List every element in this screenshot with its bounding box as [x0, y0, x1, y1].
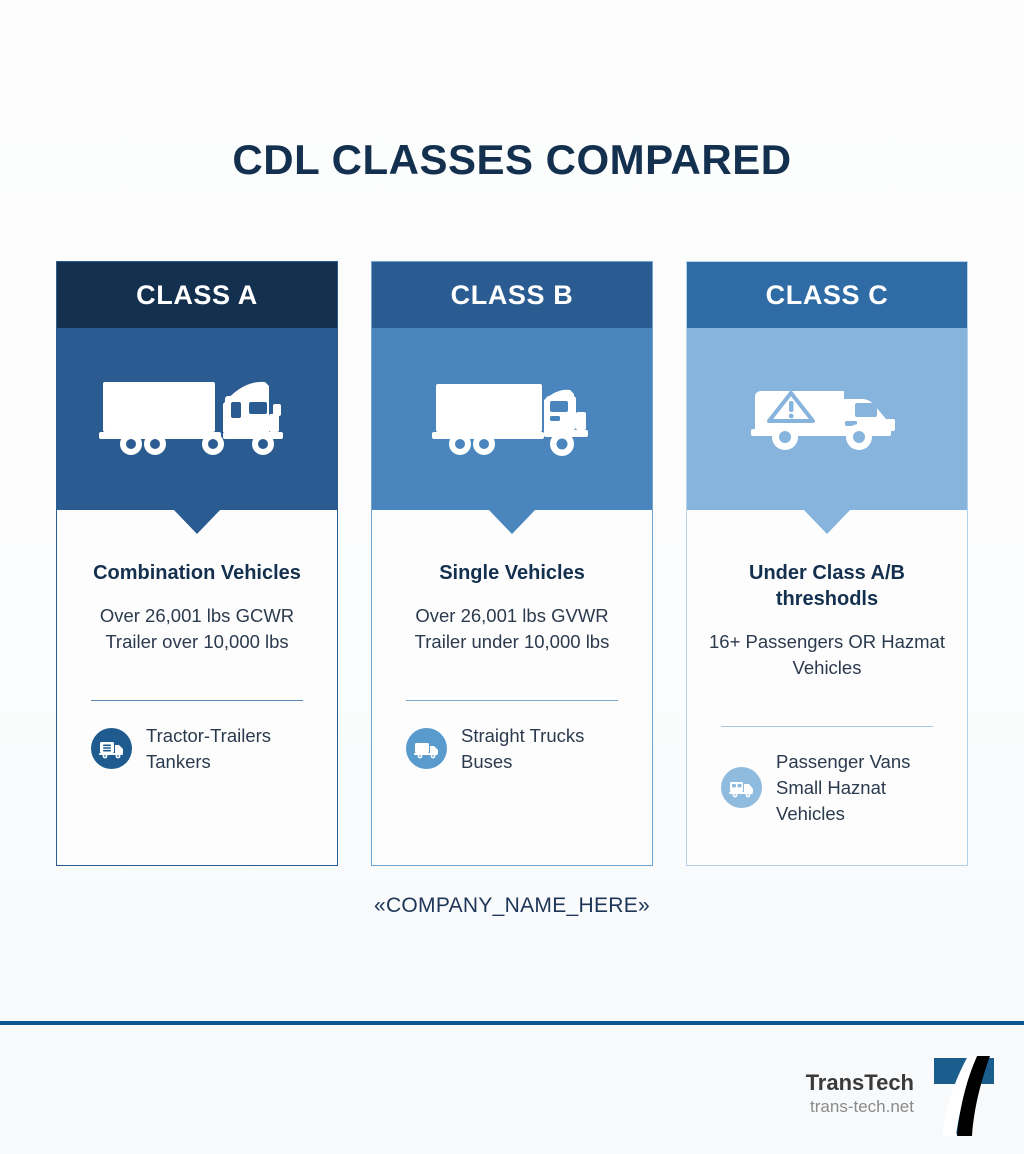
box-truck-circle-icon: [91, 728, 132, 769]
cdl-class-card-c[interactable]: CLASS C: [686, 261, 968, 866]
card-body-class-c: Under Class A/B threshodls 16+ Passenger…: [687, 510, 967, 865]
passenger-van-circle-icon: [721, 767, 762, 808]
card-detail-class-b: Over 26,001 lbs GVWR Trailer under 10,00…: [384, 603, 640, 656]
card-header-class-c: CLASS C: [687, 262, 967, 328]
card-notch-class-a: [173, 509, 221, 534]
brand-name: TransTech: [806, 1070, 914, 1095]
tractor-trailer-icon: [97, 374, 297, 464]
infographic-page: CDL CLASSES COMPARED CLASS A: [0, 0, 1024, 1154]
footer-divider: [0, 1021, 1024, 1025]
box-truck-circle-icon: [406, 728, 447, 769]
card-hero-class-a: [57, 328, 337, 510]
card-examples-text-class-b: Straight Trucks Buses: [461, 723, 584, 776]
card-notch-class-b: [488, 509, 536, 534]
company-name-placeholder: «COMPANY_NAME_HERE»: [0, 894, 1024, 918]
card-body-class-b: Single Vehicles Over 26,001 lbs GVWR Tra…: [372, 510, 652, 865]
card-subtitle-class-c: Under Class A/B threshodls: [699, 560, 955, 612]
cdl-class-card-a[interactable]: CLASS A: [56, 261, 338, 866]
card-examples-class-c: Passenger Vans Small Haznat Vehicles: [699, 727, 955, 828]
cdl-class-card-b[interactable]: CLASS B: [371, 261, 653, 866]
card-header-class-b: CLASS B: [372, 262, 652, 328]
card-detail-class-c: 16+ Passengers OR Hazmat Vehicles: [699, 629, 955, 682]
card-detail-class-a: Over 26,001 lbs GCWR Trailer over 10,000…: [69, 603, 325, 656]
card-examples-class-b: Straight Trucks Buses: [384, 701, 640, 776]
card-examples-class-a: Tractor-Trailers Tankers: [69, 701, 325, 776]
cdl-class-cards: CLASS A: [56, 261, 968, 866]
card-hero-class-b: [372, 328, 652, 510]
brand-footer[interactable]: TransTech trans-tech.net: [806, 1052, 1000, 1136]
card-body-class-a: Combination Vehicles Over 26,001 lbs GCW…: [57, 510, 337, 865]
card-examples-text-class-c: Passenger Vans Small Haznat Vehicles: [776, 749, 955, 828]
transtech-road-t-logo: [928, 1052, 1000, 1136]
card-examples-text-class-a: Tractor-Trailers Tankers: [146, 723, 271, 776]
card-notch-class-c: [803, 509, 851, 534]
brand-url: trans-tech.net: [806, 1096, 914, 1118]
card-subtitle-class-a: Combination Vehicles: [69, 560, 325, 586]
card-header-class-a: CLASS A: [57, 262, 337, 328]
card-hero-class-c: [687, 328, 967, 510]
page-title: CDL CLASSES COMPARED: [0, 136, 1024, 184]
straight-truck-icon: [430, 374, 594, 464]
hazmat-van-icon: [747, 379, 907, 459]
brand-text: TransTech trans-tech.net: [806, 1070, 914, 1117]
card-subtitle-class-b: Single Vehicles: [384, 560, 640, 586]
